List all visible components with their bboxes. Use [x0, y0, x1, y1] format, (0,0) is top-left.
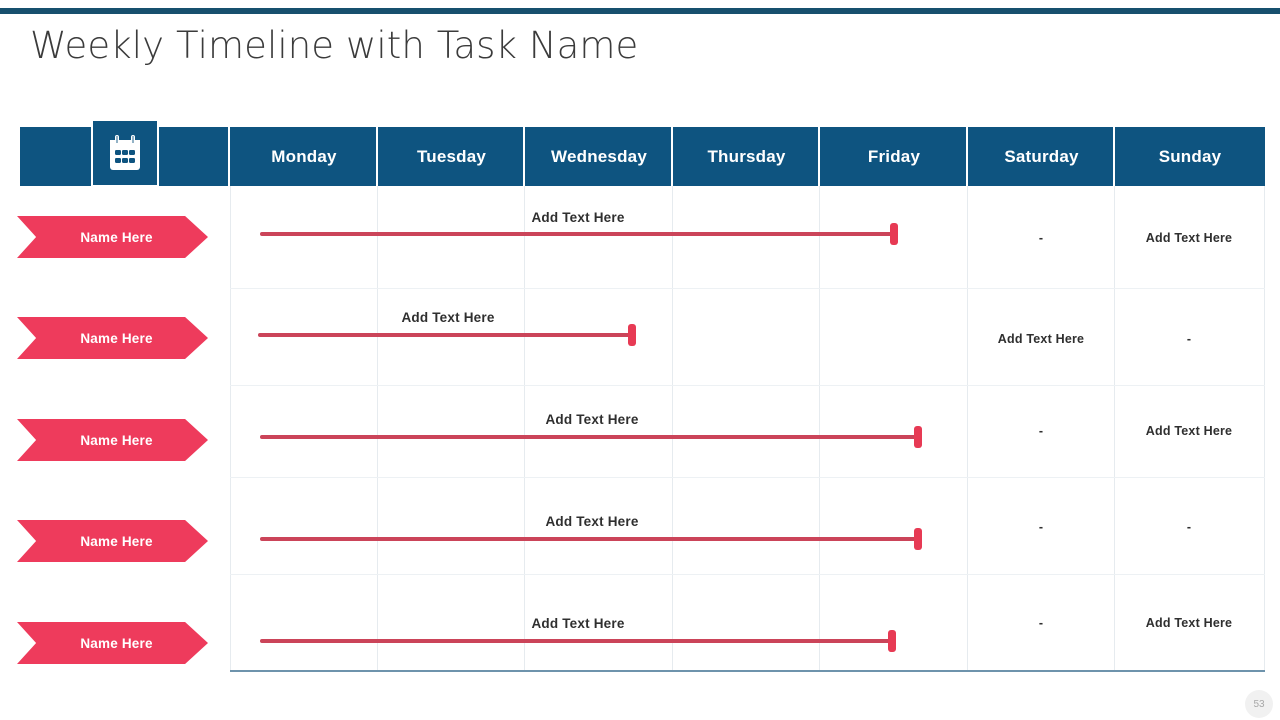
timeline-bar[interactable] [260, 435, 920, 439]
weekly-timeline-table: Monday Tuesday Wednesday Thursday Friday… [20, 121, 1265, 672]
calendar-icon [107, 134, 143, 172]
grid-hline [230, 477, 1265, 478]
header-separator [523, 127, 525, 186]
header-cell-thursday[interactable]: Thursday [673, 127, 820, 186]
grid-vline [1264, 186, 1265, 671]
header-cell-saturday[interactable]: Saturday [968, 127, 1115, 186]
cell-saturday: Add Text Here [998, 332, 1084, 346]
cell-sunday: Add Text Here [1146, 616, 1232, 630]
timeline-bar[interactable] [260, 232, 896, 236]
bar-label: Add Text Here [531, 210, 624, 225]
task-banner-row-3[interactable]: Name Here [17, 419, 208, 461]
cell-sunday: - [1187, 332, 1191, 346]
grid-vline [672, 186, 673, 671]
timeline-bar[interactable] [260, 639, 894, 643]
page-title: Weekly Timeline with Task Name [30, 24, 638, 67]
task-banner-label: Name Here [72, 230, 152, 245]
task-banner-row-4[interactable]: Name Here [17, 520, 208, 562]
task-banner-row-2[interactable]: Name Here [17, 317, 208, 359]
grid-hline [230, 385, 1265, 386]
grid-vline [524, 186, 525, 671]
bar-label: Add Text Here [545, 412, 638, 427]
header-separator [966, 127, 968, 186]
table-body-grid: Add Text Here - Add Text Here Add Text H… [20, 186, 1265, 671]
timeline-bar[interactable] [260, 537, 920, 541]
cell-saturday: - [1039, 424, 1043, 438]
cell-sunday: Add Text Here [1146, 231, 1232, 245]
calendar-icon-tile[interactable] [93, 121, 157, 185]
bar-label: Add Text Here [531, 616, 624, 631]
cell-saturday: - [1039, 616, 1043, 630]
timeline-bar-end-marker[interactable] [628, 324, 636, 346]
top-accent-stripe [0, 8, 1280, 14]
grid-vline [230, 186, 231, 671]
timeline-bar[interactable] [258, 333, 635, 337]
header-separator [671, 127, 673, 186]
grid-vline [967, 186, 968, 671]
timeline-bar-end-marker[interactable] [914, 426, 922, 448]
grid-hline [230, 288, 1265, 289]
grid-vline [377, 186, 378, 671]
page-number-badge: 53 [1245, 690, 1273, 718]
grid-vline [1114, 186, 1115, 671]
grid-hline [230, 574, 1265, 575]
task-banner-label: Name Here [72, 636, 152, 651]
task-banner-label: Name Here [72, 534, 152, 549]
header-cell-spacer-left [20, 127, 91, 186]
cell-saturday: - [1039, 231, 1043, 245]
timeline-bar-end-marker[interactable] [888, 630, 896, 652]
header-cell-spacer-right [159, 127, 230, 186]
header-cell-tuesday[interactable]: Tuesday [378, 127, 525, 186]
header-separator [818, 127, 820, 186]
timeline-bar-end-marker[interactable] [890, 223, 898, 245]
task-banner-row-5[interactable]: Name Here [17, 622, 208, 664]
header-cell-sunday[interactable]: Sunday [1115, 127, 1265, 186]
cell-sunday: - [1187, 520, 1191, 534]
task-banner-label: Name Here [72, 433, 152, 448]
grid-bottom-rule [230, 670, 1265, 672]
grid-vline [819, 186, 820, 671]
timeline-bar-end-marker[interactable] [914, 528, 922, 550]
bar-label: Add Text Here [401, 310, 494, 325]
header-cell-wednesday[interactable]: Wednesday [525, 127, 673, 186]
header-separator [228, 127, 230, 186]
header-separator [1113, 127, 1115, 186]
cell-sunday: Add Text Here [1146, 424, 1232, 438]
cell-saturday: - [1039, 520, 1043, 534]
table-header-row: Monday Tuesday Wednesday Thursday Friday… [20, 127, 1265, 186]
header-cell-monday[interactable]: Monday [230, 127, 378, 186]
header-cell-friday[interactable]: Friday [820, 127, 968, 186]
header-separator [376, 127, 378, 186]
task-banner-row-1[interactable]: Name Here [17, 216, 208, 258]
task-banner-label: Name Here [72, 331, 152, 346]
bar-label: Add Text Here [545, 514, 638, 529]
